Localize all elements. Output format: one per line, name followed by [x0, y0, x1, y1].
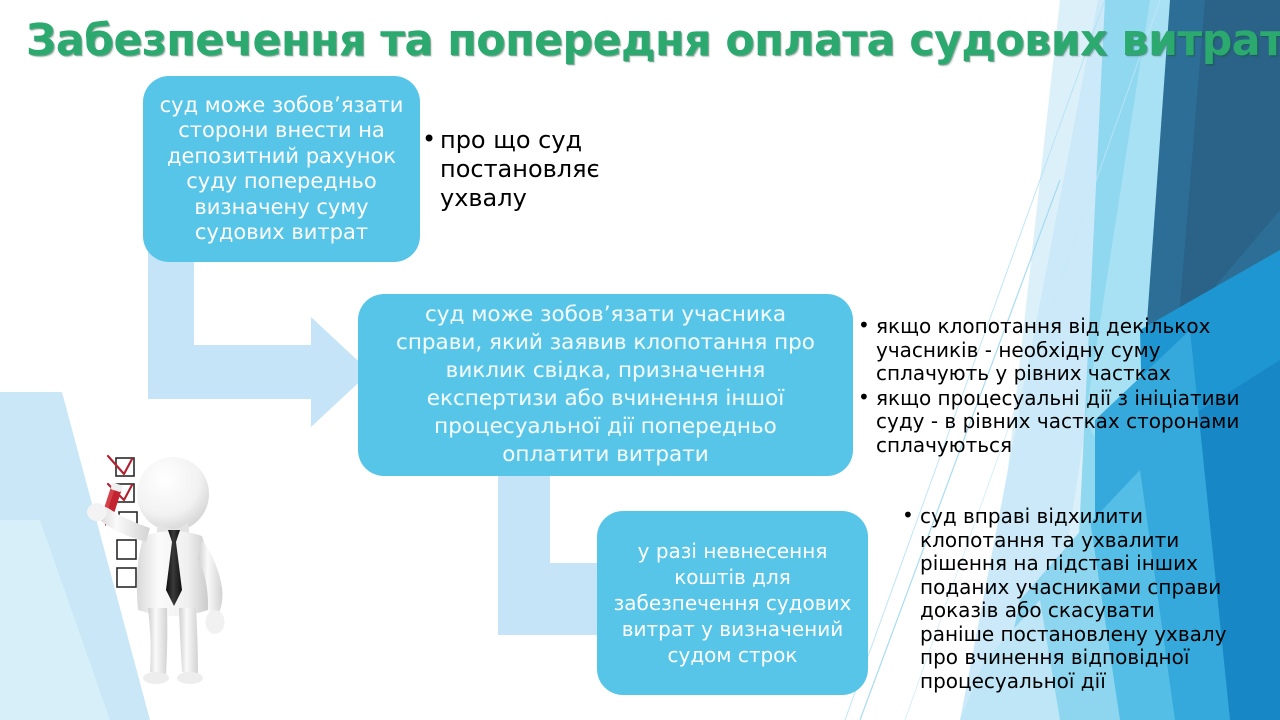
- bullet-list-ruling: про що суд постановляє ухвалу: [420, 126, 660, 215]
- right-leg: [179, 608, 198, 675]
- left-hand: [87, 503, 107, 521]
- list-item: про що суд постановляє ухвалу: [420, 126, 660, 213]
- left-foot: [143, 672, 169, 684]
- bullet-list-payment-shares: якщо клопотання від декількох учасників …: [856, 315, 1246, 458]
- list-item: суд вправі відхилити клопотання та ухвал…: [900, 505, 1230, 693]
- list-item: якщо процесуальні дії з ініціативи суду …: [856, 387, 1246, 458]
- checkbox-4: [117, 540, 136, 559]
- bullet-list-court-rights: суд вправі відхилити клопотання та ухвал…: [900, 505, 1230, 695]
- flow-box-court-may-oblige-parties[interactable]: суд може зобов’язати сторони внести на д…: [143, 76, 420, 262]
- flow-box-1-text: суд може зобов’язати сторони внести на д…: [143, 93, 420, 246]
- flow-box-3-text: у разі невнесення коштів для забезпеченн…: [597, 538, 868, 668]
- presentation-slide: Забезпечення та попередня оплата судових…: [0, 0, 1280, 720]
- right-hand: [206, 610, 225, 634]
- right-foot: [177, 672, 203, 684]
- flow-box-court-may-oblige-participant[interactable]: суд може зобов’язати учасника справи, як…: [358, 294, 853, 476]
- page-title: Забезпечення та попередня оплата судових…: [26, 14, 1229, 68]
- bullet-list-middle: якщо клопотання від декількох учасників …: [856, 315, 1246, 457]
- connector-arrow-box1-to-box2: [148, 252, 378, 427]
- bullet-list-bottom: суд вправі відхилити клопотання та ухвал…: [900, 505, 1230, 693]
- elbow-arrow-icon: [148, 252, 370, 427]
- list-item: якщо клопотання від декількох учасників …: [856, 315, 1246, 386]
- head: [137, 457, 209, 531]
- flow-box-2-text: суд може зобов’язати учасника справи, як…: [358, 301, 853, 469]
- left-leg: [148, 608, 167, 675]
- checkbox-5: [117, 568, 136, 587]
- 3d-man-checklist-illustration: [72, 432, 277, 684]
- flow-box-failure-to-deposit[interactable]: у разі невнесення коштів для забезпеченн…: [597, 511, 868, 695]
- bullet-list-top: про що суд постановляє ухвалу: [420, 126, 660, 213]
